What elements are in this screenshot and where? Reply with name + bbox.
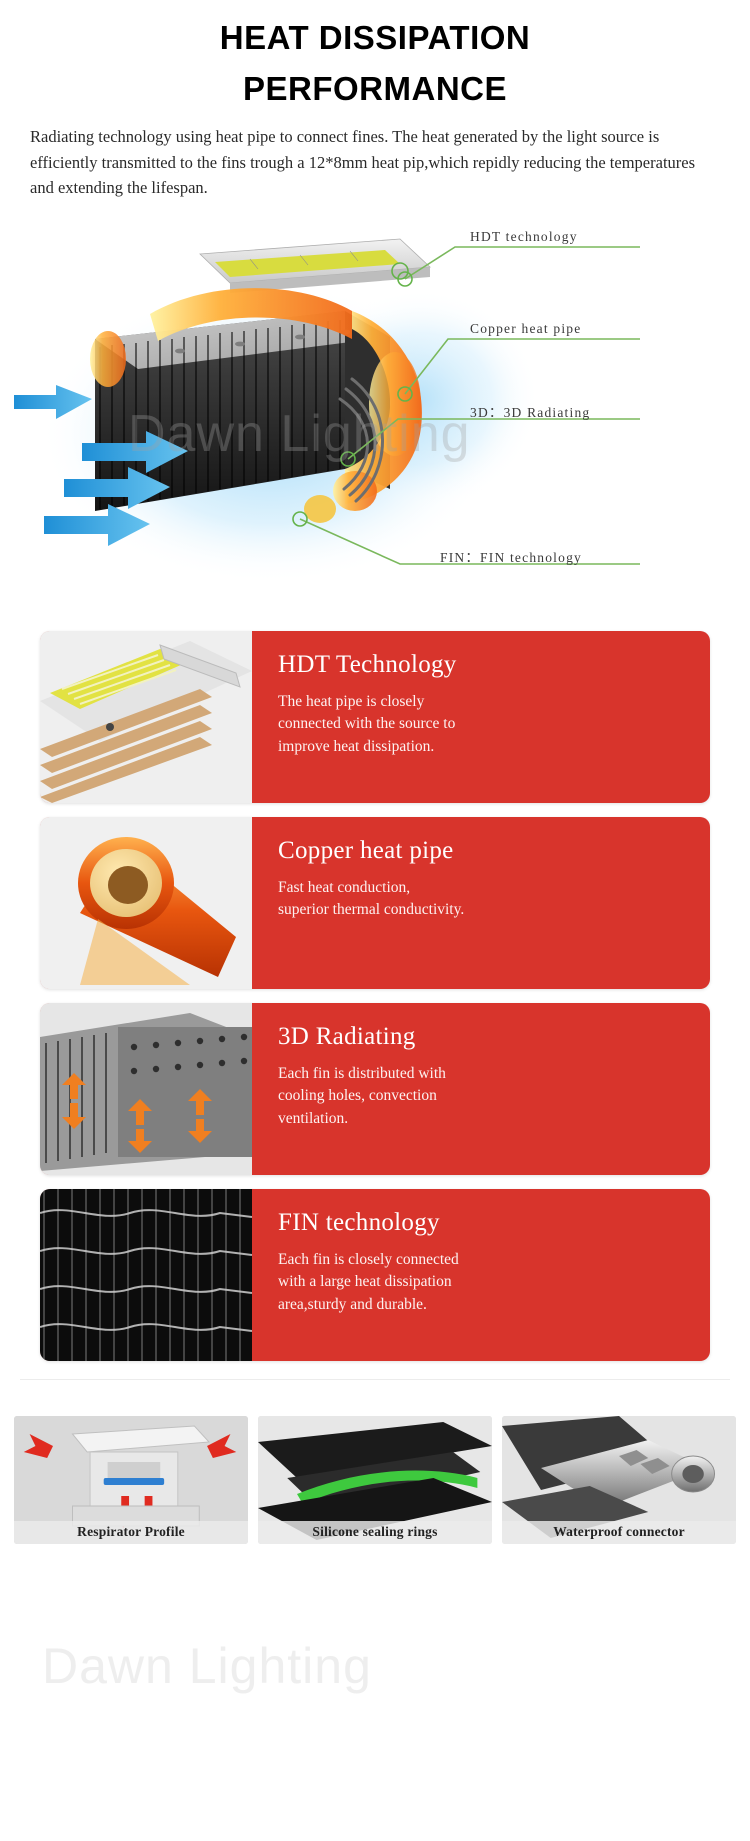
card-body-fin-technology: FIN technology Each fin is closely conne… [252, 1189, 710, 1361]
led-board [200, 239, 430, 293]
card-title-copper-heat-pipe: Copper heat pipe [278, 837, 688, 865]
card-body-3d-radiating: 3D Radiating Each fin is distributed wit… [252, 1003, 710, 1175]
intro-paragraph: Radiating technology using heat pipe to … [30, 124, 720, 201]
feature-card-copper-heat-pipe[interactable]: Copper heat pipe Fast heat conduction, s… [40, 817, 710, 989]
copper-pipe-cutaway-photo [40, 817, 252, 989]
thumbnail-respirator-profile[interactable]: Respirator Profile [14, 1416, 248, 1544]
page-title-line-2: PERFORMANCE [0, 63, 750, 114]
feature-card-fin-technology[interactable]: FIN technology Each fin is closely conne… [40, 1189, 710, 1361]
card-desc-3d-radiating: Each fin is distributed with cooling hol… [278, 1063, 688, 1130]
card-title-hdt-technology: HDT Technology [278, 651, 688, 679]
thumbnail-caption-waterproof-connector: Waterproof connector [502, 1521, 736, 1544]
heat-dissipation-diagram: Dawn Lighting HDT technology Copper heat… [0, 219, 750, 609]
watermark-cards: Dawn Lighting [42, 1637, 372, 1695]
card-body-hdt-technology: HDT Technology The heat pipe is closely … [252, 631, 710, 803]
diagram-illustration [0, 219, 750, 609]
card-desc-hdt-technology: The heat pipe is closely connected with … [278, 691, 688, 758]
section-divider [20, 1379, 730, 1380]
callout-label-hdt-technology: HDT technology [470, 229, 578, 245]
card-title-3d-radiating: 3D Radiating [278, 1023, 688, 1051]
card-title-fin-technology: FIN technology [278, 1209, 688, 1237]
feature-card-list: HDT Technology The heat pipe is closely … [0, 631, 750, 1361]
thumbnail-caption-respirator-profile: Respirator Profile [14, 1521, 248, 1544]
card-desc-copper-heat-pipe: Fast heat conduction, superior thermal c… [278, 877, 688, 922]
callout-label-3d-radiating: 3D：3D Radiating [470, 401, 590, 421]
feature-card-hdt-technology[interactable]: HDT Technology The heat pipe is closely … [40, 631, 710, 803]
callout-label-copper-heat-pipe: Copper heat pipe [470, 321, 581, 337]
callout-label-fin-technology: FIN：FIN technology [440, 546, 582, 566]
thumbnail-caption-silicone-sealing-rings: Silicone sealing rings [258, 1521, 492, 1544]
3d-radiating-fins-photo [40, 1003, 252, 1175]
card-desc-fin-technology: Each fin is closely connected with a lar… [278, 1249, 688, 1316]
thumbnail-silicone-sealing-rings[interactable]: Silicone sealing rings [258, 1416, 492, 1544]
feature-card-3d-radiating[interactable]: 3D Radiating Each fin is distributed wit… [40, 1003, 710, 1175]
thumbnail-strip: Respirator Profile Silicone sealing ring… [14, 1416, 736, 1544]
page-title-line-1: HEAT DISSIPATION [220, 19, 531, 56]
fin-technology-photo [40, 1189, 252, 1361]
hdt-heat-pipe-photo [40, 631, 252, 803]
card-body-copper-heat-pipe: Copper heat pipe Fast heat conduction, s… [252, 817, 710, 989]
page-title: HEAT DISSIPATION PERFORMANCE [0, 0, 750, 114]
thumbnail-waterproof-connector[interactable]: Waterproof connector [502, 1416, 736, 1544]
